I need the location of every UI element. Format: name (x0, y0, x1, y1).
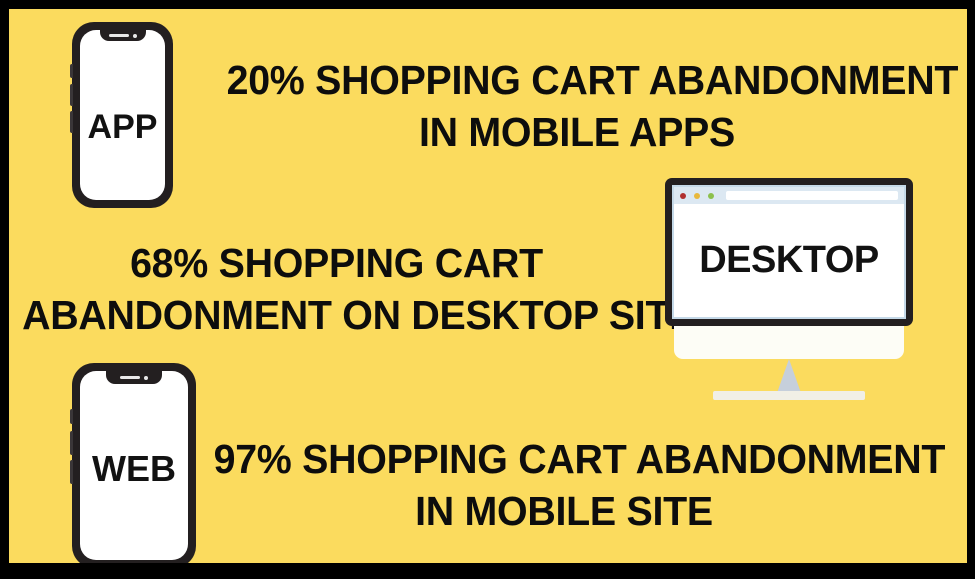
monitor-bezel: DESKTOP (665, 178, 913, 326)
app-statistic-text: 20% SHOPPING CART ABANDONMENT IN MOBILE … (212, 54, 942, 158)
browser-address-bar[interactable] (726, 191, 898, 200)
desktop-statistic-line-1: 68% SHOPPING CART (22, 237, 651, 289)
monitor-screen: DESKTOP (672, 185, 906, 319)
speaker-slot-icon (109, 34, 129, 37)
phone-label-web: WEB (80, 448, 188, 490)
front-camera-icon (144, 376, 148, 380)
front-camera-icon (133, 34, 137, 38)
phone-mute-button-web[interactable] (70, 409, 73, 424)
phone-volume-down-button-web[interactable] (70, 460, 73, 484)
phone-screen-app: APP (80, 30, 165, 200)
phone-volume-up-button-app[interactable] (70, 84, 73, 106)
phone-volume-up-button-web[interactable] (70, 431, 73, 455)
monitor-chin (674, 326, 904, 359)
minimize-dot-icon[interactable] (694, 193, 700, 199)
desktop-statistic-line-2: ABANDONMENT ON DESKTOP SITES (22, 289, 651, 341)
phone-volume-down-button-app[interactable] (70, 111, 73, 133)
monitor-stand (777, 359, 801, 393)
phone-notch-app (100, 30, 146, 41)
close-dot-icon[interactable] (680, 193, 686, 199)
phone-device-app: APP (72, 22, 173, 208)
desktop-statistic-text: 68% SHOPPING CART ABANDONMENT ON DESKTOP… (9, 237, 664, 341)
infographic-poster: APP 20% SHOPPING CART ABANDONMENT IN MOB… (0, 0, 975, 579)
phone-mute-button-app[interactable] (70, 64, 73, 78)
web-statistic-line-1: 97% SHOPPING CART ABANDONMENT (214, 433, 915, 485)
phone-notch-web (106, 371, 162, 384)
speaker-slot-icon (120, 376, 140, 379)
maximize-dot-icon[interactable] (708, 193, 714, 199)
poster-canvas: APP 20% SHOPPING CART ABANDONMENT IN MOB… (9, 9, 967, 563)
web-statistic-text: 97% SHOPPING CART ABANDONMENT IN MOBILE … (199, 433, 929, 537)
phone-screen-web: WEB (80, 371, 188, 560)
phone-device-web: WEB (72, 363, 196, 563)
browser-titlebar (674, 187, 904, 204)
monitor-base (713, 391, 865, 400)
app-statistic-line-1: 20% SHOPPING CART ABANDONMENT (227, 54, 928, 106)
app-statistic-line-2: IN MOBILE APPS (227, 106, 928, 158)
web-statistic-line-2: IN MOBILE SITE (214, 485, 915, 537)
monitor-screen-label: DESKTOP (674, 239, 904, 282)
phone-label-app: APP (80, 108, 165, 147)
desktop-monitor-device: DESKTOP (665, 178, 913, 404)
